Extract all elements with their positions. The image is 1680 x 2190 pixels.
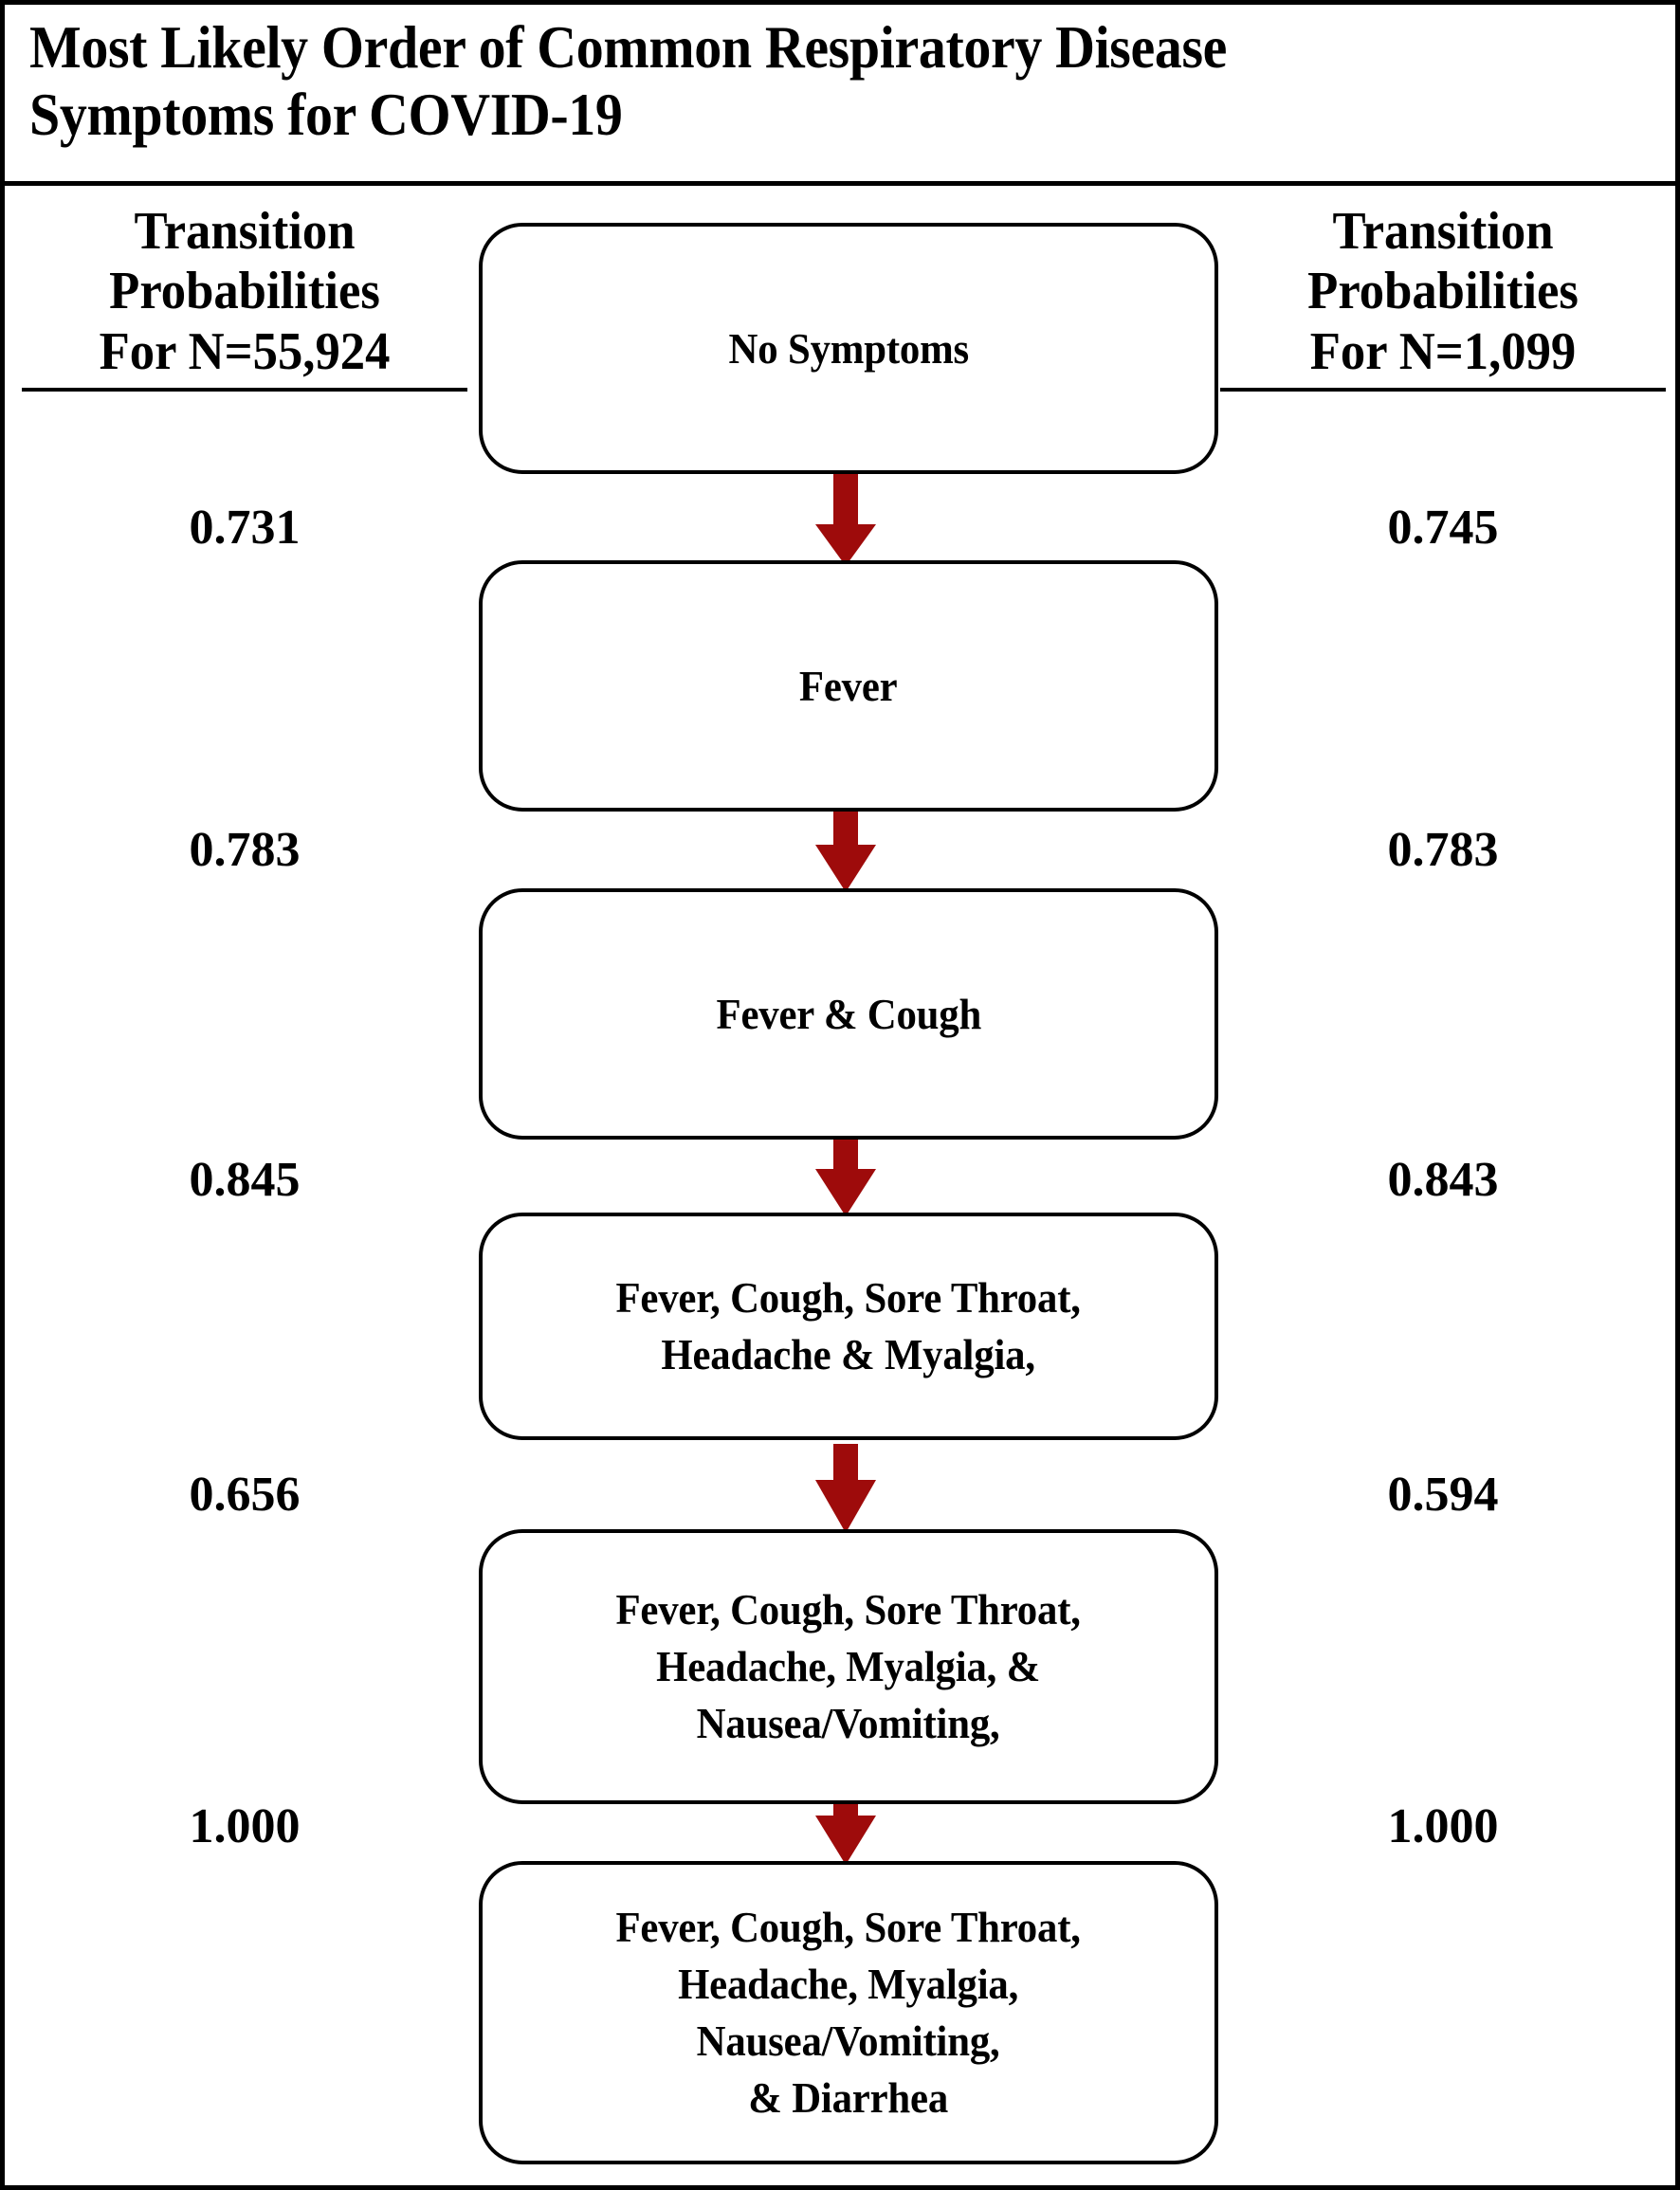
left-header-line-1: Transition <box>35 202 454 262</box>
node-no-symptoms[interactable]: No Symptoms <box>479 223 1218 474</box>
node-five-symptoms[interactable]: Fever, Cough, Sore Throat, Headache & My… <box>479 1213 1218 1440</box>
right-header-line-3: For N=1,099 <box>1233 322 1653 382</box>
node-seven-symptoms-label: Fever, Cough, Sore Throat, Headache, Mya… <box>600 1899 1097 2126</box>
node-fever-label: Fever <box>783 658 913 715</box>
right-probability-5: 1.000 <box>1220 1802 1666 1852</box>
left-probability-4: 0.656 <box>22 1470 467 1520</box>
right-column-header: Transition Probabilities For N=1,099 <box>1220 202 1666 392</box>
node-seven-symptoms[interactable]: Fever, Cough, Sore Throat, Headache, Mya… <box>479 1861 1218 2164</box>
right-probability-3: 0.843 <box>1220 1156 1666 1205</box>
figure-panel: Most Likely Order of Common Respiratory … <box>0 0 1680 2190</box>
node-no-symptoms-label: No Symptoms <box>713 320 985 377</box>
arrow-2 <box>815 809 876 892</box>
arrow-1 <box>815 473 876 566</box>
left-probability-3: 0.845 <box>22 1156 467 1205</box>
left-probability-2: 0.783 <box>22 826 467 875</box>
title-band: Most Likely Order of Common Respiratory … <box>5 5 1675 186</box>
right-probability-4: 0.594 <box>1220 1470 1666 1520</box>
node-fever-cough[interactable]: Fever & Cough <box>479 888 1218 1140</box>
left-probability-5: 1.000 <box>22 1802 467 1852</box>
node-fever-cough-label: Fever & Cough <box>700 986 996 1043</box>
node-fever[interactable]: Fever <box>479 560 1218 812</box>
node-five-symptoms-label: Fever, Cough, Sore Throat, Headache & My… <box>600 1269 1097 1383</box>
right-probability-2: 0.783 <box>1220 826 1666 875</box>
left-column-header: Transition Probabilities For N=55,924 <box>22 202 467 392</box>
left-probability-1: 0.731 <box>22 503 467 553</box>
node-six-symptoms-label: Fever, Cough, Sore Throat, Headache, Mya… <box>600 1581 1097 1751</box>
right-probability-1: 0.745 <box>1220 503 1666 553</box>
arrow-3 <box>815 1133 876 1216</box>
left-header-line-3: For N=55,924 <box>35 322 454 382</box>
arrow-4 <box>815 1444 876 1533</box>
right-header-line-1: Transition <box>1233 202 1653 262</box>
figure-title: Most Likely Order of Common Respiratory … <box>29 14 1512 148</box>
right-header-line-2: Probabilities <box>1233 262 1653 321</box>
left-header-line-2: Probabilities <box>35 262 454 321</box>
node-six-symptoms[interactable]: Fever, Cough, Sore Throat, Headache, Mya… <box>479 1529 1218 1804</box>
